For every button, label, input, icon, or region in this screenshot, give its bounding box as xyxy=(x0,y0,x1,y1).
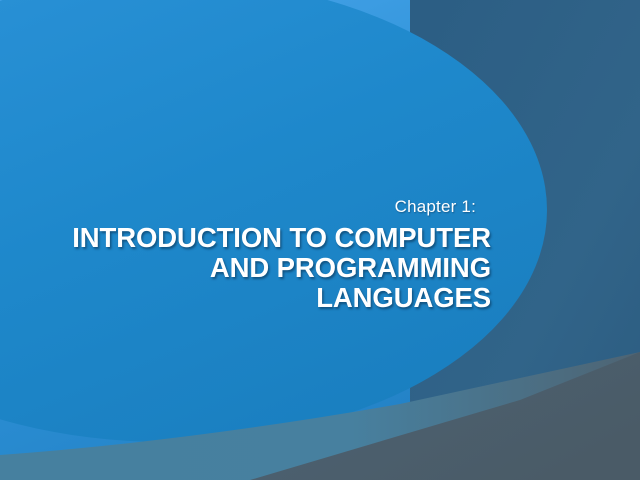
slide-subtitle: Chapter 1: xyxy=(0,196,491,218)
slide-title-line-2: AND PROGRAMMING xyxy=(0,253,491,283)
slide-title-line-1: INTRODUCTION TO COMPUTER xyxy=(0,223,491,253)
slide-text-block: Chapter 1: INTRODUCTION TO COMPUTER AND … xyxy=(0,196,491,313)
slide-title: INTRODUCTION TO COMPUTER AND PROGRAMMING… xyxy=(0,223,491,313)
slide-title-line-3: LANGUAGES xyxy=(0,283,491,313)
title-slide: Chapter 1: INTRODUCTION TO COMPUTER AND … xyxy=(0,0,640,480)
